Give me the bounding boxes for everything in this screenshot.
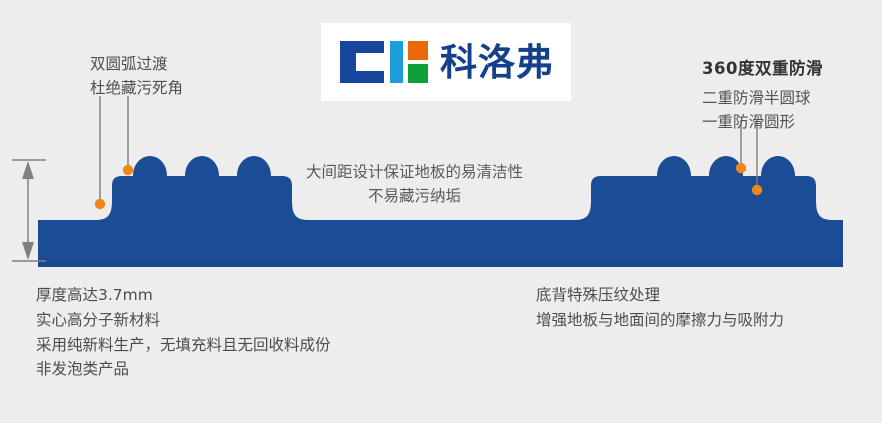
bottom-right-line1: 底背特殊压纹处理 [536, 283, 784, 308]
callout-right-line2: 一重防滑圆形 [702, 110, 811, 134]
brand-logo: 科洛弗 [321, 23, 571, 101]
bottom-left-line1: 厚度高达3.7mm [36, 283, 331, 308]
logo-c-shape [340, 41, 384, 83]
callout-left-line2: 杜绝藏污死角 [90, 76, 183, 100]
center-note-line2: 不易藏污纳垢 [306, 184, 523, 208]
callout-dot-left-outer [95, 199, 105, 209]
bottom-left-specs: 厚度高达3.7mm 实心高分子新材料 采用纯新料生产，无填充料且无回收料成份 非… [36, 283, 331, 382]
center-note-text: 大间距设计保证地板的易清洁性 不易藏污纳垢 [306, 160, 523, 208]
product-cross-section-infographic: 科洛弗 双圆弧过渡 杜绝藏污死角 大间距设计保证地板的易清洁性 不易藏污纳垢 3… [0, 0, 882, 423]
kelofu-logo-mark [338, 39, 430, 85]
bottom-left-line3: 采用纯新料生产，无填充料且无回收料成份 [36, 333, 331, 358]
logo-wordmark: 科洛弗 [440, 44, 554, 81]
logo-bar-lightblue [390, 41, 403, 83]
bottom-right-specs: 底背特殊压纹处理 增强地板与地面间的摩擦力与吸附力 [536, 283, 784, 333]
logo-square-orange [408, 41, 428, 60]
callout-dot-right-inner [736, 163, 746, 173]
callout-right-subtext: 二重防滑半圆球 一重防滑圆形 [702, 86, 811, 134]
bottom-right-line2: 增强地板与地面间的摩擦力与吸附力 [536, 308, 784, 333]
callout-left-text: 双圆弧过渡 杜绝藏污死角 [90, 52, 183, 100]
logo-square-green [408, 64, 428, 83]
callout-dot-left-inner [123, 165, 133, 175]
profile-bottom-edge [38, 262, 843, 267]
callout-left-line1: 双圆弧过渡 [90, 52, 183, 76]
bottom-left-line2: 实心高分子新材料 [36, 308, 331, 333]
dimension-arrowhead-up [22, 161, 34, 179]
callout-right-title: 360度双重防滑 [702, 55, 823, 79]
dimension-arrowhead-down [22, 242, 34, 260]
callout-right-line1: 二重防滑半圆球 [702, 86, 811, 110]
bottom-left-line4: 非发泡类产品 [36, 357, 331, 382]
callout-dot-right-outer [752, 185, 762, 195]
center-note-line1: 大间距设计保证地板的易清洁性 [306, 160, 523, 184]
